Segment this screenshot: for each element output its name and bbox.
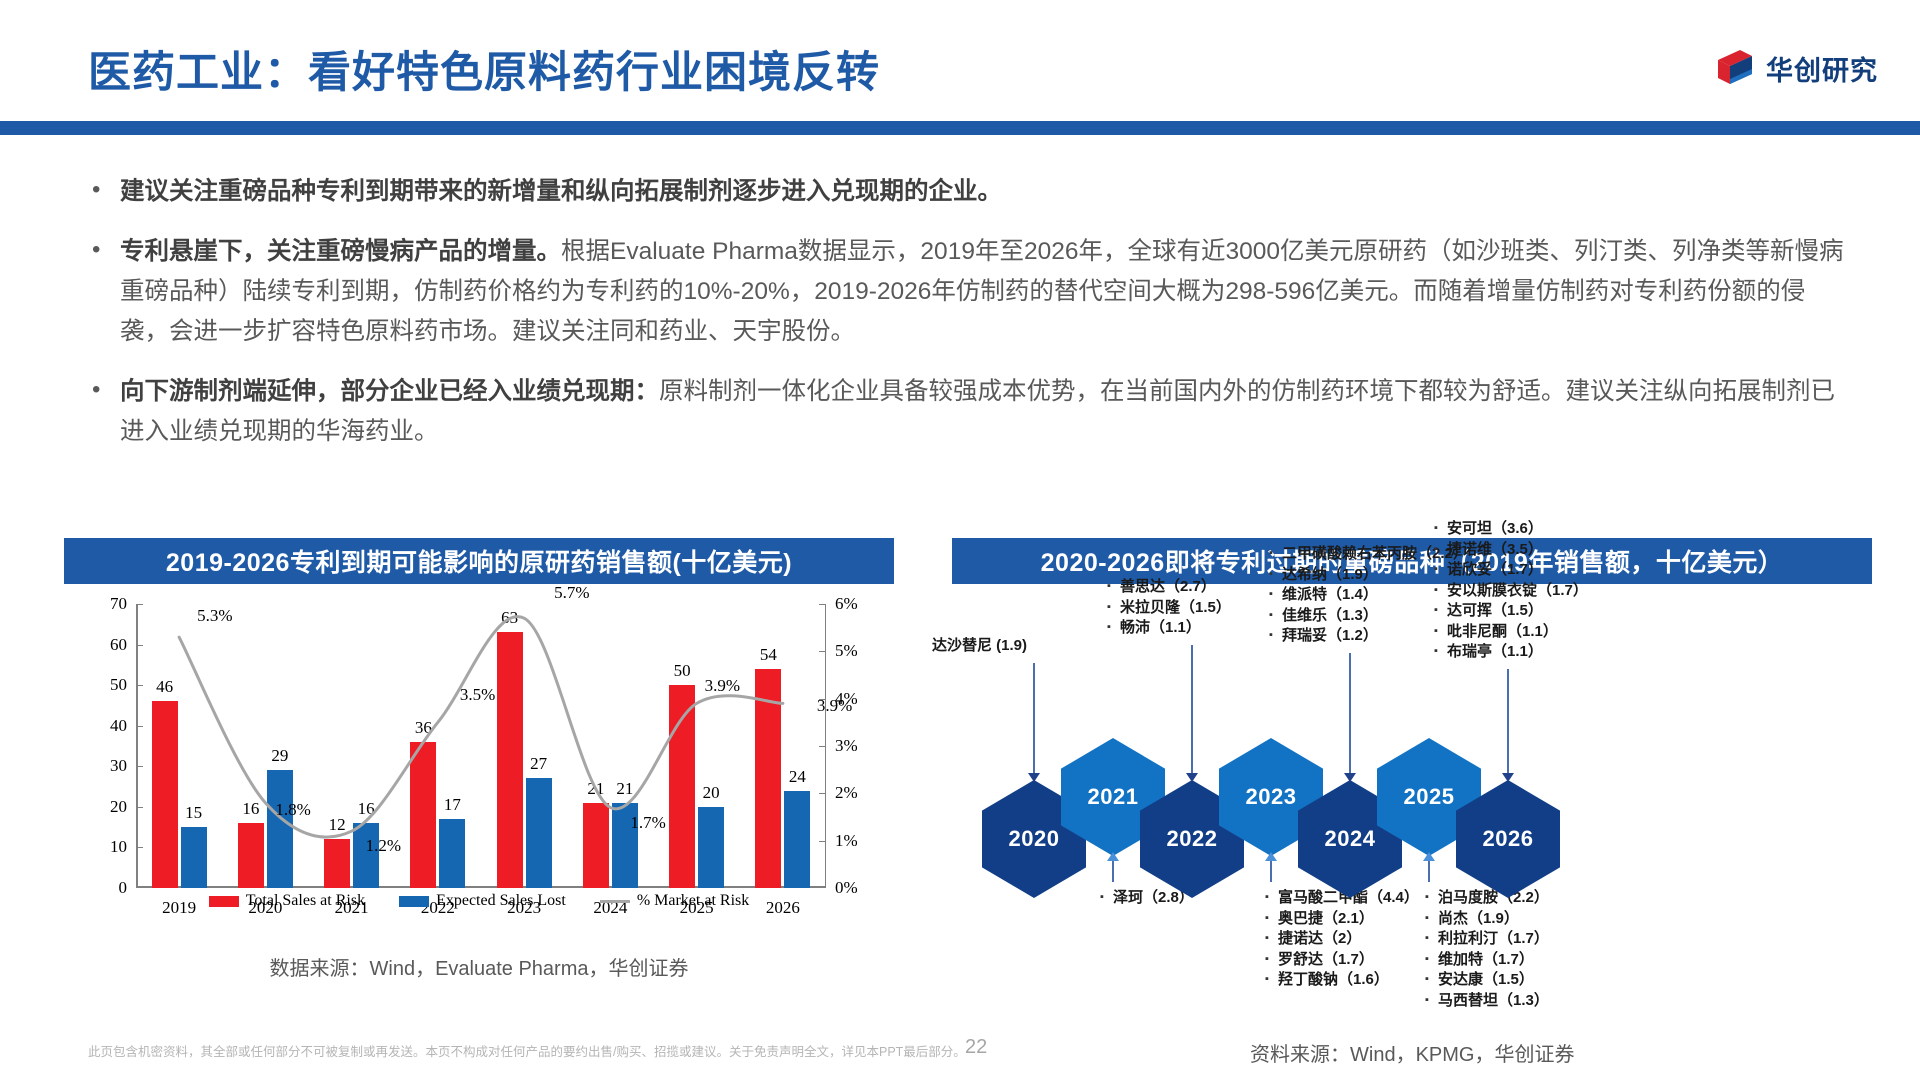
y-tick-right: 1% [826, 831, 858, 851]
bar-group: 46152019 [136, 604, 222, 888]
drug-list-2020: 达沙替尼 (1.9) [932, 636, 1027, 657]
bar-total-sales-at-risk: 54 [755, 669, 781, 888]
drug-list-item: 安可坦（3.6） [1434, 519, 1588, 540]
bar-expected-sales-lost: 29 [267, 770, 293, 888]
connector-line-2026 [1507, 669, 1509, 775]
chart-plot-area: 0102030405060700%1%2%3%4%5%6%46152019162… [136, 604, 826, 888]
bullet-item-2: 专利悬崖下，关注重磅慢病产品的增量。根据Evaluate Pharma数据显示，… [84, 232, 1844, 352]
bar-group: 36172022 [395, 604, 481, 888]
legend-item: Expected Sales Lost [399, 892, 566, 910]
bar-total-sales-at-risk: 36 [410, 742, 436, 888]
drug-list-2023: 富马酸二甲酯（4.4）奥巴捷（2.1）捷诺达（2）罗舒达（1.7）羟丁酸钠（1.… [1265, 888, 1419, 991]
drug-list-item: 达沙替尼 (1.9) [932, 636, 1027, 657]
drug-list-item: 捷诺达（2） [1265, 929, 1419, 950]
line-value-label: 3.9% [705, 676, 740, 696]
slide: 医药工业：看好特色原料药行业困境反转 华创研究 建议关注重磅品种专利到期带来的新… [0, 0, 1920, 1080]
bar-total-sales-at-risk: 21 [583, 803, 609, 888]
drug-list-item: 诺欣妥（1.7） [1434, 560, 1588, 581]
bar-expected-sales-lost: 15 [181, 827, 207, 888]
drug-list-item: 泊马度胺（2.2） [1425, 888, 1549, 909]
bar-expected-sales-lost: 27 [526, 778, 552, 888]
connector-line-2020 [1033, 663, 1035, 775]
bar-total-sales-at-risk: 12 [324, 839, 350, 888]
drug-list-2025: 泊马度胺（2.2）尚杰（1.9）利拉利汀（1.7）维加特（1.7）安达康（1.5… [1425, 888, 1549, 1011]
drug-list-item: 达可挥（1.5） [1434, 601, 1588, 622]
sales-at-risk-chart: 0102030405060700%1%2%3%4%5%6%46152019162… [64, 596, 894, 936]
legend-swatch [399, 896, 429, 907]
drug-list-item: 善思达（2.7） [1107, 577, 1231, 598]
bullet-3-bold: 向下游制剂端延伸，部分企业已经入业绩兑现期： [120, 378, 659, 405]
legend-swatch [600, 900, 630, 903]
bullet-item-1: 建议关注重磅品种专利到期带来的新增量和纵向拓展制剂逐步进入兑现期的企业。 [84, 172, 1844, 212]
arrowhead-up-2025 [1423, 852, 1435, 861]
line-value-label: 5.7% [554, 583, 589, 603]
legend-item: % Market at Risk [600, 892, 749, 910]
drug-list-2022: 善思达（2.7）米拉贝隆（1.5）畅沛（1.1） [1107, 577, 1231, 639]
bar-total-sales-at-risk: 46 [152, 701, 178, 888]
legend-label: % Market at Risk [637, 892, 749, 910]
drug-list-item: 马西替坦（1.3） [1425, 991, 1549, 1012]
line-value-label: 5.3% [197, 606, 232, 626]
drug-list-item: 维加特（1.7） [1425, 950, 1549, 971]
arrowhead-up-2021 [1107, 852, 1119, 861]
bullet-2-bold: 专利悬崖下，关注重磅慢病产品的增量。 [120, 238, 561, 265]
bar-value-label: 12 [329, 815, 346, 835]
drug-list-item: 羟丁酸钠（1.6） [1265, 970, 1419, 991]
chart-legend: Total Sales at RiskExpected Sales Lost% … [64, 892, 894, 910]
arrowhead-down-2026 [1502, 773, 1514, 782]
bar-value-label: 21 [587, 779, 604, 799]
y-tick-left: 60 [110, 635, 136, 655]
drug-list-item: 吡非尼酮（1.1） [1434, 622, 1588, 643]
drug-list-item: 安达康（1.5） [1425, 970, 1549, 991]
logo-text: 华创研究 [1766, 49, 1878, 88]
page-number: 22 [965, 1036, 987, 1059]
line-value-label: 1.8% [275, 800, 310, 820]
bar-value-label: 27 [530, 754, 547, 774]
bar-total-sales-at-risk: 16 [238, 823, 264, 888]
line-value-label: 1.7% [630, 813, 665, 833]
arrowhead-down-2024 [1344, 773, 1356, 782]
legend-label: Total Sales at Risk [246, 892, 365, 910]
y-tick-right: 2% [826, 783, 858, 803]
bar-expected-sales-lost: 17 [439, 819, 465, 888]
arrowhead-down-2020 [1028, 773, 1040, 782]
slide-header: 医药工业：看好特色原料药行业困境反转 华创研究 [0, 0, 1920, 135]
bar-group: 63272023 [481, 604, 567, 888]
bullet-1-bold: 建议关注重磅品种专利到期带来的新增量和纵向拓展制剂逐步进入兑现期的企业。 [120, 178, 1002, 205]
connector-line-2022 [1191, 645, 1193, 775]
left-panel-title: 2019-2026专利到期可能影响的原研药销售额(十亿美元) [64, 538, 894, 584]
right-source-note: 资料来源：Wind，KPMG，华创证券 [1250, 1038, 1574, 1067]
bar-expected-sales-lost: 24 [784, 791, 810, 888]
y-tick-left: 10 [110, 837, 136, 857]
arrowhead-up-2023 [1265, 852, 1277, 861]
left-source-note: 数据来源：Wind，Evaluate Pharma，华创证券 [64, 952, 894, 981]
y-tick-right: 6% [826, 594, 858, 614]
bar-group: 50202025 [654, 604, 740, 888]
y-tick-left: 70 [110, 594, 136, 614]
bullet-item-3: 向下游制剂端延伸，部分企业已经入业绩兑现期：原料制剂一体化企业具备较强成本优势，… [84, 372, 1844, 452]
legend-swatch [209, 896, 239, 907]
y-tick-right: 5% [826, 641, 858, 661]
header-divider [0, 121, 1920, 135]
cube-logo-icon [1714, 48, 1756, 88]
bar-value-label: 63 [501, 608, 518, 628]
patent-expiry-timeline: 2020达沙替尼 (1.9)2021泽珂（2.8）2022善思达（2.7）米拉贝… [952, 586, 1872, 1056]
drug-list-item: 罗舒达（1.7） [1265, 950, 1419, 971]
drug-list-item: 安以斯膜衣锭（1.7） [1434, 581, 1588, 602]
bar-value-label: 15 [185, 803, 202, 823]
drug-list-2021: 泽珂（2.8） [1100, 888, 1194, 909]
bar-group: 54242026 [740, 604, 826, 888]
bar-value-label: 50 [674, 661, 691, 681]
bar-expected-sales-lost: 20 [698, 807, 724, 888]
drug-list-item: 捷诺维（3.5） [1434, 540, 1588, 561]
line-value-label: 3.5% [460, 685, 495, 705]
drug-list-item: 奥巴捷（2.1） [1265, 909, 1419, 930]
y-tick-left: 40 [110, 716, 136, 736]
bar-value-label: 46 [156, 677, 173, 697]
bullet-list: 建议关注重磅品种专利到期带来的新增量和纵向拓展制剂逐步进入兑现期的企业。 专利悬… [84, 172, 1844, 472]
bar-group: 16292020 [222, 604, 308, 888]
bar-value-label: 36 [415, 718, 432, 738]
line-value-label: 1.2% [366, 836, 401, 856]
arrowhead-down-2022 [1186, 773, 1198, 782]
y-tick-left: 50 [110, 675, 136, 695]
page-title: 医药工业：看好特色原料药行业困境反转 [88, 38, 880, 100]
bar-value-label: 20 [703, 783, 720, 803]
bar-value-label: 54 [760, 645, 777, 665]
y-tick-left: 20 [110, 797, 136, 817]
bar-total-sales-at-risk: 50 [669, 685, 695, 888]
bar-total-sales-at-risk: 63 [497, 632, 523, 888]
drug-list-item: 米拉贝隆（1.5） [1107, 598, 1231, 619]
y-tick-right: 3% [826, 736, 858, 756]
bar-value-label: 17 [444, 795, 461, 815]
bar-value-label: 29 [271, 746, 288, 766]
drug-list-2026: 安可坦（3.6）捷诺维（3.5）诺欣妥（1.7）安以斯膜衣锭（1.7）达可挥（1… [1434, 519, 1588, 663]
drug-list-item: 畅沛（1.1） [1107, 618, 1231, 639]
brand-logo: 华创研究 [1714, 48, 1878, 88]
drug-list-item: 泽珂（2.8） [1100, 888, 1194, 909]
drug-list-item: 尚杰（1.9） [1425, 909, 1549, 930]
bar-value-label: 16 [242, 799, 259, 819]
line-value-label: 3.9% [817, 696, 852, 716]
y-tick-left: 30 [110, 756, 136, 776]
connector-line-2021 [1112, 860, 1114, 882]
drug-list-item: 布瑞亭（1.1） [1434, 642, 1588, 663]
drug-list-item: 利拉利汀（1.7） [1425, 929, 1549, 950]
bar-value-label: 16 [358, 799, 375, 819]
connector-line-2024 [1349, 653, 1351, 775]
bar-group: 21212024 [567, 604, 653, 888]
bar-value-label: 24 [789, 767, 806, 787]
bar-value-label: 21 [616, 779, 633, 799]
disclaimer-text: 此页包含机密资料，其全部或任何部分不可被复制或再发送。本页不构成对任何产品的要约… [88, 1041, 966, 1060]
legend-item: Total Sales at Risk [209, 892, 365, 910]
connector-line-2023 [1270, 860, 1272, 882]
connector-line-2025 [1428, 860, 1430, 882]
legend-label: Expected Sales Lost [436, 892, 566, 910]
